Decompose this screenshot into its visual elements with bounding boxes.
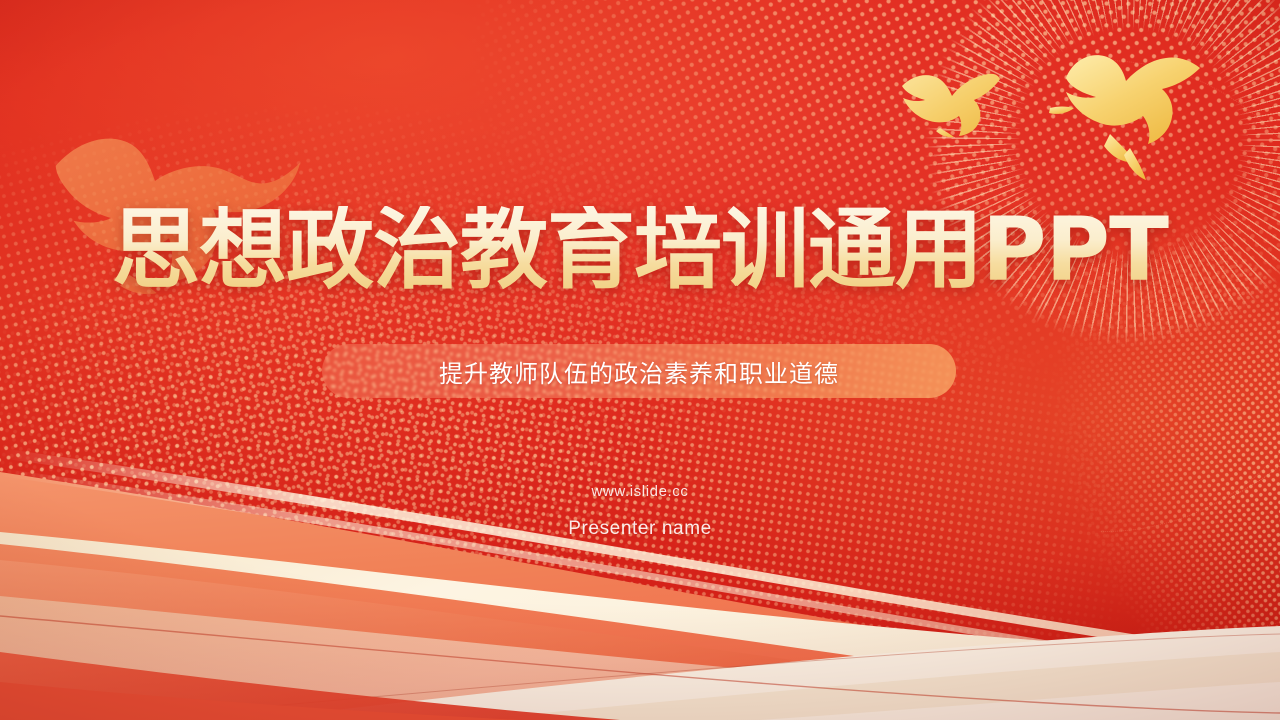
- subtitle-text: 提升教师队伍的政治素养和职业道德: [439, 354, 839, 389]
- dove-icon-middle: [896, 52, 1002, 138]
- bottom-ribbon-decoration: [0, 420, 1280, 720]
- subtitle-pill: 提升教师队伍的政治素养和职业道德: [322, 344, 956, 398]
- website-url[interactable]: www.islide.cc: [0, 483, 1280, 500]
- presentation-title-slide: 思想政治教育培训通用PPT 提升教师队伍的政治素养和职业道德 www.islid…: [0, 0, 1280, 720]
- presenter-name: Presenter name: [0, 518, 1280, 540]
- page-title: 思想政治教育培训通用PPT: [0, 206, 1280, 294]
- dove-icon-right: [1044, 44, 1210, 186]
